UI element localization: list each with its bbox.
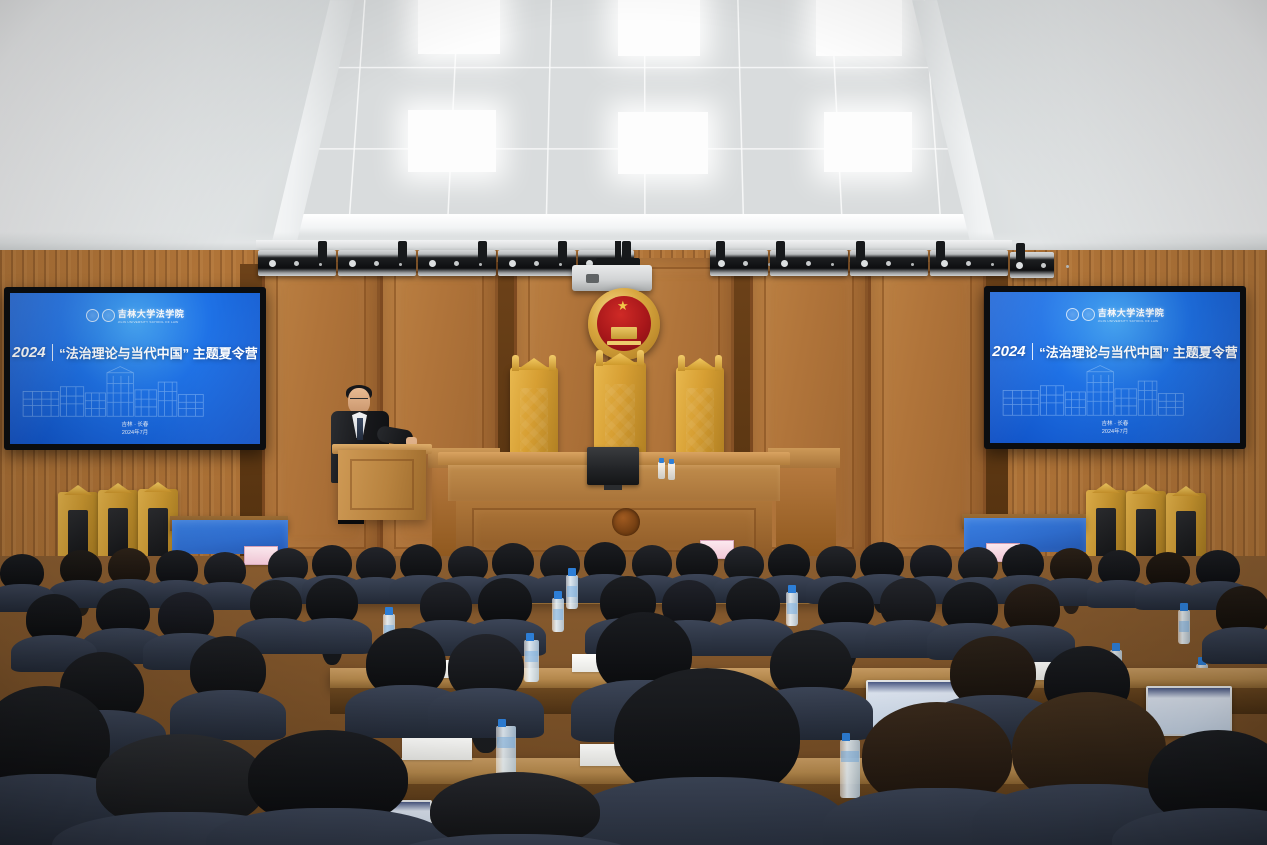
- bench-monitor[interactable]: [587, 447, 639, 485]
- law-school-seal-icon: [102, 309, 115, 322]
- audience-member: [306, 578, 358, 654]
- slide-footer: 吉林 · 长春 2024年7月: [990, 421, 1240, 437]
- slide-logo-cn: 吉林大学法学院: [118, 307, 185, 320]
- stage-light-bar[interactable]: [498, 250, 576, 276]
- judge-chair[interactable]: [510, 367, 558, 463]
- slide-footer-location: 吉林 · 长春: [10, 422, 260, 430]
- courtroom-photo: 吉林大学法学院 JILIN UNIVERSITY SCHOOL OF LAW 2…: [0, 0, 1267, 845]
- stage-light-bar[interactable]: [710, 250, 768, 276]
- law-school-seal-icon: [1082, 308, 1095, 321]
- speaker-podium: [338, 450, 426, 520]
- audience-member: [248, 730, 408, 845]
- ceiling-light-panel: [618, 112, 708, 174]
- audience-member: [1216, 586, 1267, 664]
- water-bottle[interactable]: [1178, 610, 1190, 644]
- slide-title-row: 2024 “法治理论与当代中国” 主题夏令营: [990, 342, 1240, 361]
- audience-member: [614, 668, 800, 845]
- audience-member: [190, 636, 266, 740]
- ceiling-light-panel: [824, 112, 912, 172]
- projector-lens: [586, 274, 599, 283]
- ceiling-light-panel: [618, 0, 700, 56]
- stage-light-bar[interactable]: [770, 250, 848, 276]
- slide-main-title: “法治理论与当代中国” 主题夏令营: [1039, 342, 1238, 361]
- slide-main-title: “法治理论与当代中国” 主题夏令营: [59, 343, 258, 362]
- slide-footer: 吉林 · 长春 2024年7月: [10, 422, 260, 438]
- water-bottle[interactable]: [552, 598, 564, 632]
- ceiling-light-panel: [408, 110, 496, 172]
- wall-panel-inset: [882, 271, 972, 549]
- lighting-rail: [256, 240, 1012, 249]
- slide-title-divider: [52, 344, 54, 361]
- emblem-field: [597, 296, 651, 351]
- bench-side-right: [776, 468, 836, 556]
- water-bottle[interactable]: [668, 463, 675, 480]
- speaker-tie: [357, 418, 363, 440]
- audience-member: [1146, 552, 1190, 610]
- chair-upholstery: [520, 388, 548, 457]
- slide-title-divider: [1032, 343, 1034, 360]
- slide-title-row: 2024 “法治理论与当代中国” 主题夏令营: [10, 343, 260, 362]
- emblem-base: [607, 341, 641, 345]
- stage-light-bar[interactable]: [1010, 252, 1054, 278]
- ceiling-light-panel: [816, 0, 902, 56]
- glasses-icon: [350, 398, 368, 403]
- campus-building-outline-icon: [20, 365, 206, 419]
- slide-logo-en: JILIN UNIVERSITY SCHOOL OF LAW: [1098, 319, 1159, 322]
- slide-footer-date: 2024年7月: [10, 430, 260, 438]
- handout-paper: [402, 738, 472, 760]
- audience-member: [430, 772, 600, 845]
- left-projection-screen[interactable]: 吉林大学法学院 JILIN UNIVERSITY SCHOOL OF LAW 2…: [4, 287, 266, 450]
- right-projection-screen[interactable]: 吉林大学法学院 JILIN UNIVERSITY SCHOOL OF LAW 2…: [984, 286, 1246, 449]
- water-bottle[interactable]: [840, 740, 860, 798]
- university-seal-icon: [86, 309, 99, 322]
- water-bottle[interactable]: [658, 462, 665, 479]
- campus-building-outline-icon: [1000, 364, 1186, 418]
- bench-front-emblem: [612, 508, 640, 536]
- stage-light-bar[interactable]: [930, 250, 1008, 276]
- slide-logo: 吉林大学法学院 JILIN UNIVERSITY SCHOOL OF LAW: [990, 306, 1240, 323]
- audience-member: [1148, 730, 1267, 845]
- left-slide: 吉林大学法学院 JILIN UNIVERSITY SCHOOL OF LAW 2…: [10, 293, 260, 444]
- water-bottle[interactable]: [786, 592, 798, 626]
- stage-light-bar[interactable]: [338, 250, 416, 276]
- audience-member: [448, 634, 524, 738]
- judge-chair[interactable]: [676, 367, 724, 463]
- slide-year: 2024: [12, 344, 45, 361]
- chair-upholstery: [686, 388, 714, 457]
- stage-light-bar[interactable]: [418, 250, 496, 276]
- slide-logo-cn: 吉林大学法学院: [1098, 306, 1165, 319]
- water-bottle[interactable]: [524, 640, 539, 682]
- slide-footer-location: 吉林 · 长春: [990, 421, 1240, 429]
- stage-light-bar[interactable]: [258, 250, 336, 276]
- right-slide: 吉林大学法学院 JILIN UNIVERSITY SCHOOL OF LAW 2…: [990, 292, 1240, 443]
- ceiling-light-panel: [418, 0, 500, 54]
- bench-monitor-stand: [604, 485, 622, 490]
- slide-year: 2024: [992, 343, 1025, 360]
- audience-member: [1098, 550, 1140, 608]
- university-seal-icon: [1066, 308, 1079, 321]
- stage-light-bar[interactable]: [850, 250, 928, 276]
- slide-logo: 吉林大学法学院 JILIN UNIVERSITY SCHOOL OF LAW: [10, 307, 260, 324]
- emblem-gate-icon: [611, 327, 637, 339]
- podium-panel-inset: [350, 459, 414, 510]
- water-bottle[interactable]: [566, 575, 578, 609]
- slide-logo-en: JILIN UNIVERSITY SCHOOL OF LAW: [118, 320, 179, 323]
- slide-footer-date: 2024年7月: [990, 429, 1240, 437]
- ceiling-recess: [300, 0, 972, 240]
